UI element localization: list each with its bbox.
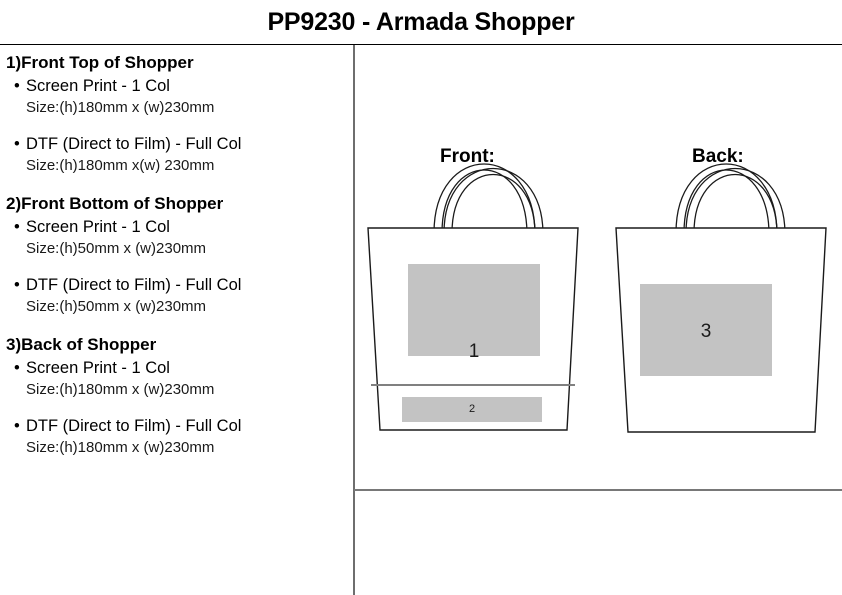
back-handle-outer-strap-inner-edge [684, 170, 769, 233]
spec-size-label: Size:(h)180mm x (w)230mm [26, 437, 349, 458]
spec-method-label: DTF (Direct to Film) - Full Col [26, 135, 241, 153]
spec-method-line: •DTF (Direct to Film) - Full Col [14, 133, 349, 155]
spec-section-2: 2)Front Bottom of Shopper •Screen Print … [4, 193, 349, 317]
page-title-bar: PP9230 - Armada Shopper [0, 0, 842, 44]
print-area-1-number: 1 [408, 341, 540, 363]
spec-method-line: •Screen Print - 1 Col [14, 75, 349, 97]
spec-method-line: •DTF (Direct to Film) - Full Col [14, 415, 349, 437]
spec-method-label: DTF (Direct to Film) - Full Col [26, 417, 241, 435]
spec-method-line: •Screen Print - 1 Col [14, 216, 349, 238]
spec-item: •Screen Print - 1 Col Size:(h)180mm x (w… [4, 357, 349, 400]
spec-section-1: 1)Front Top of Shopper •Screen Print - 1… [4, 52, 349, 176]
front-bag-illustration [368, 164, 578, 430]
spec-item: •DTF (Direct to Film) - Full Col Size:(h… [4, 274, 349, 317]
spec-item: •Screen Print - 1 Col Size:(h)50mm x (w)… [4, 216, 349, 259]
front-handle-outer-strap [434, 164, 535, 233]
specification-list: 1)Front Top of Shopper •Screen Print - 1… [4, 52, 349, 475]
bag-illustrations [354, 45, 842, 490]
spec-section-heading: 3)Back of Shopper [6, 334, 349, 356]
spec-size-label: Size:(h)180mm x (w)230mm [26, 379, 349, 400]
front-handle-outer-strap-inner-edge [442, 170, 527, 233]
spec-section-3: 3)Back of Shopper •Screen Print - 1 Col … [4, 334, 349, 458]
back-handle-outer-strap [676, 164, 777, 233]
artwork-spec-page: PP9230 - Armada Shopper 1)Front Top of S… [0, 0, 842, 595]
spec-section-heading: 2)Front Bottom of Shopper [6, 193, 349, 215]
bullet-icon: • [14, 415, 26, 437]
spec-method-label: Screen Print - 1 Col [26, 77, 170, 95]
spec-size-label: Size:(h)50mm x (w)230mm [26, 238, 349, 259]
bullet-icon: • [14, 133, 26, 155]
spec-item: •DTF (Direct to Film) - Full Col Size:(h… [4, 415, 349, 458]
spec-size-label: Size:(h)50mm x (w)230mm [26, 296, 349, 317]
diagram-panel: Front: Back: [354, 45, 842, 490]
spec-method-label: DTF (Direct to Film) - Full Col [26, 276, 241, 294]
bullet-icon: • [14, 216, 26, 238]
spec-method-label: Screen Print - 1 Col [26, 218, 170, 236]
spec-size-label: Size:(h)180mm x (w)230mm [26, 97, 349, 118]
page-title: PP9230 - Armada Shopper [267, 8, 574, 37]
spec-size-label: Size:(h)180mm x(w) 230mm [26, 155, 349, 176]
bullet-icon: • [14, 357, 26, 379]
spec-method-line: •DTF (Direct to Film) - Full Col [14, 274, 349, 296]
spec-item: •DTF (Direct to Film) - Full Col Size:(h… [4, 133, 349, 176]
back-bag-illustration [616, 164, 826, 432]
print-area-2-number: 2 [402, 403, 542, 415]
spec-item: •Screen Print - 1 Col Size:(h)180mm x (w… [4, 75, 349, 118]
bullet-icon: • [14, 274, 26, 296]
print-area-3-number: 3 [640, 321, 772, 343]
spec-method-label: Screen Print - 1 Col [26, 359, 170, 377]
bullet-icon: • [14, 75, 26, 97]
spec-method-line: •Screen Print - 1 Col [14, 357, 349, 379]
spec-section-heading: 1)Front Top of Shopper [6, 52, 349, 74]
